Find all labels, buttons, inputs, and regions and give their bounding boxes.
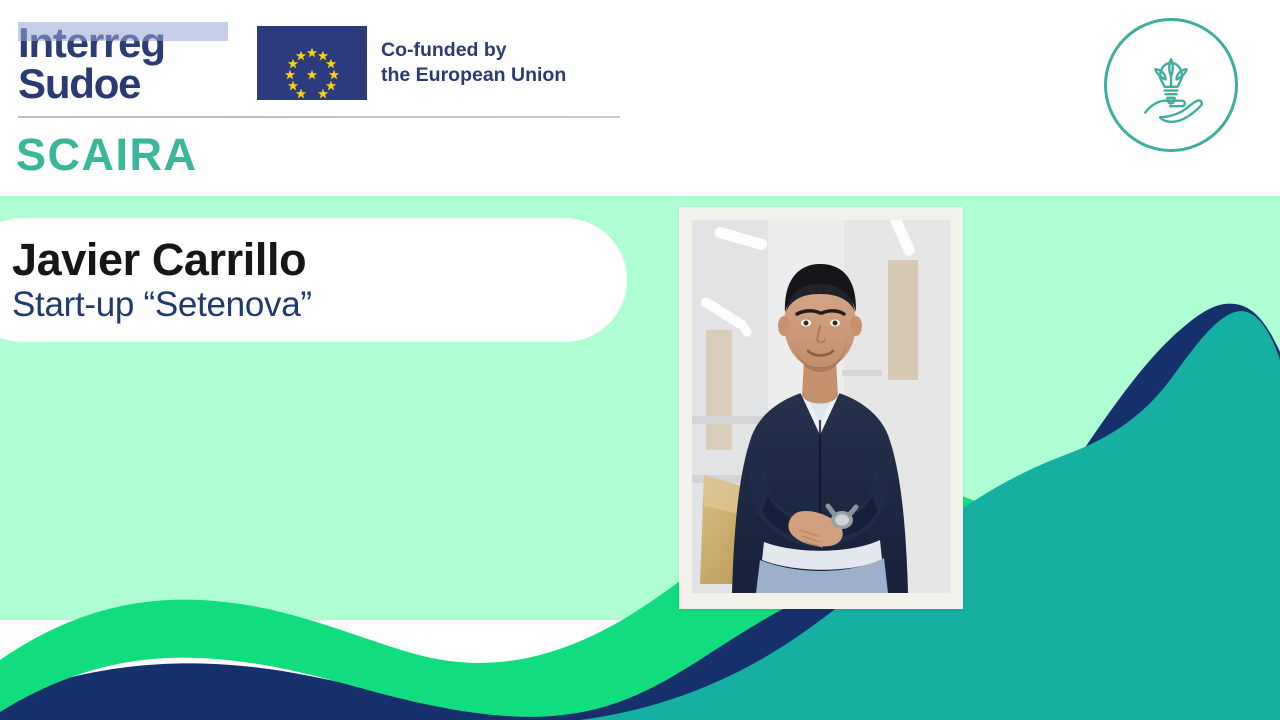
speaker-photo-frame [679,207,963,609]
eu-text-line2: the European Union [381,63,566,88]
speaker-portrait-photo [692,220,950,593]
hand-holding-lightbulb-leaf-icon [1125,39,1217,131]
slide-canvas: Javier Carrillo Start-up “Setenova” [0,0,1280,720]
scaira-badge [1104,18,1238,152]
eu-cofunded-text: Co-funded by the European Union [381,38,566,88]
speaker-name: Javier Carrillo [12,235,627,285]
slide-header: Interreg Sudoe [0,0,1280,196]
eu-flag-icon [257,26,367,100]
interreg-logo-line1: Interreg [18,22,228,63]
scaira-wordmark: SCAIRA [16,130,198,180]
speaker-name-pill: Javier Carrillo Start-up “Setenova” [0,218,627,342]
interreg-sudoe-logo: Interreg Sudoe [18,22,228,104]
eu-cofunded-logo: Co-funded by the European Union [257,26,566,100]
eu-text-line1: Co-funded by [381,38,566,63]
speaker-role: Start-up “Setenova” [12,284,627,326]
interreg-logo-line2: Sudoe [18,63,228,104]
header-divider [18,116,620,118]
